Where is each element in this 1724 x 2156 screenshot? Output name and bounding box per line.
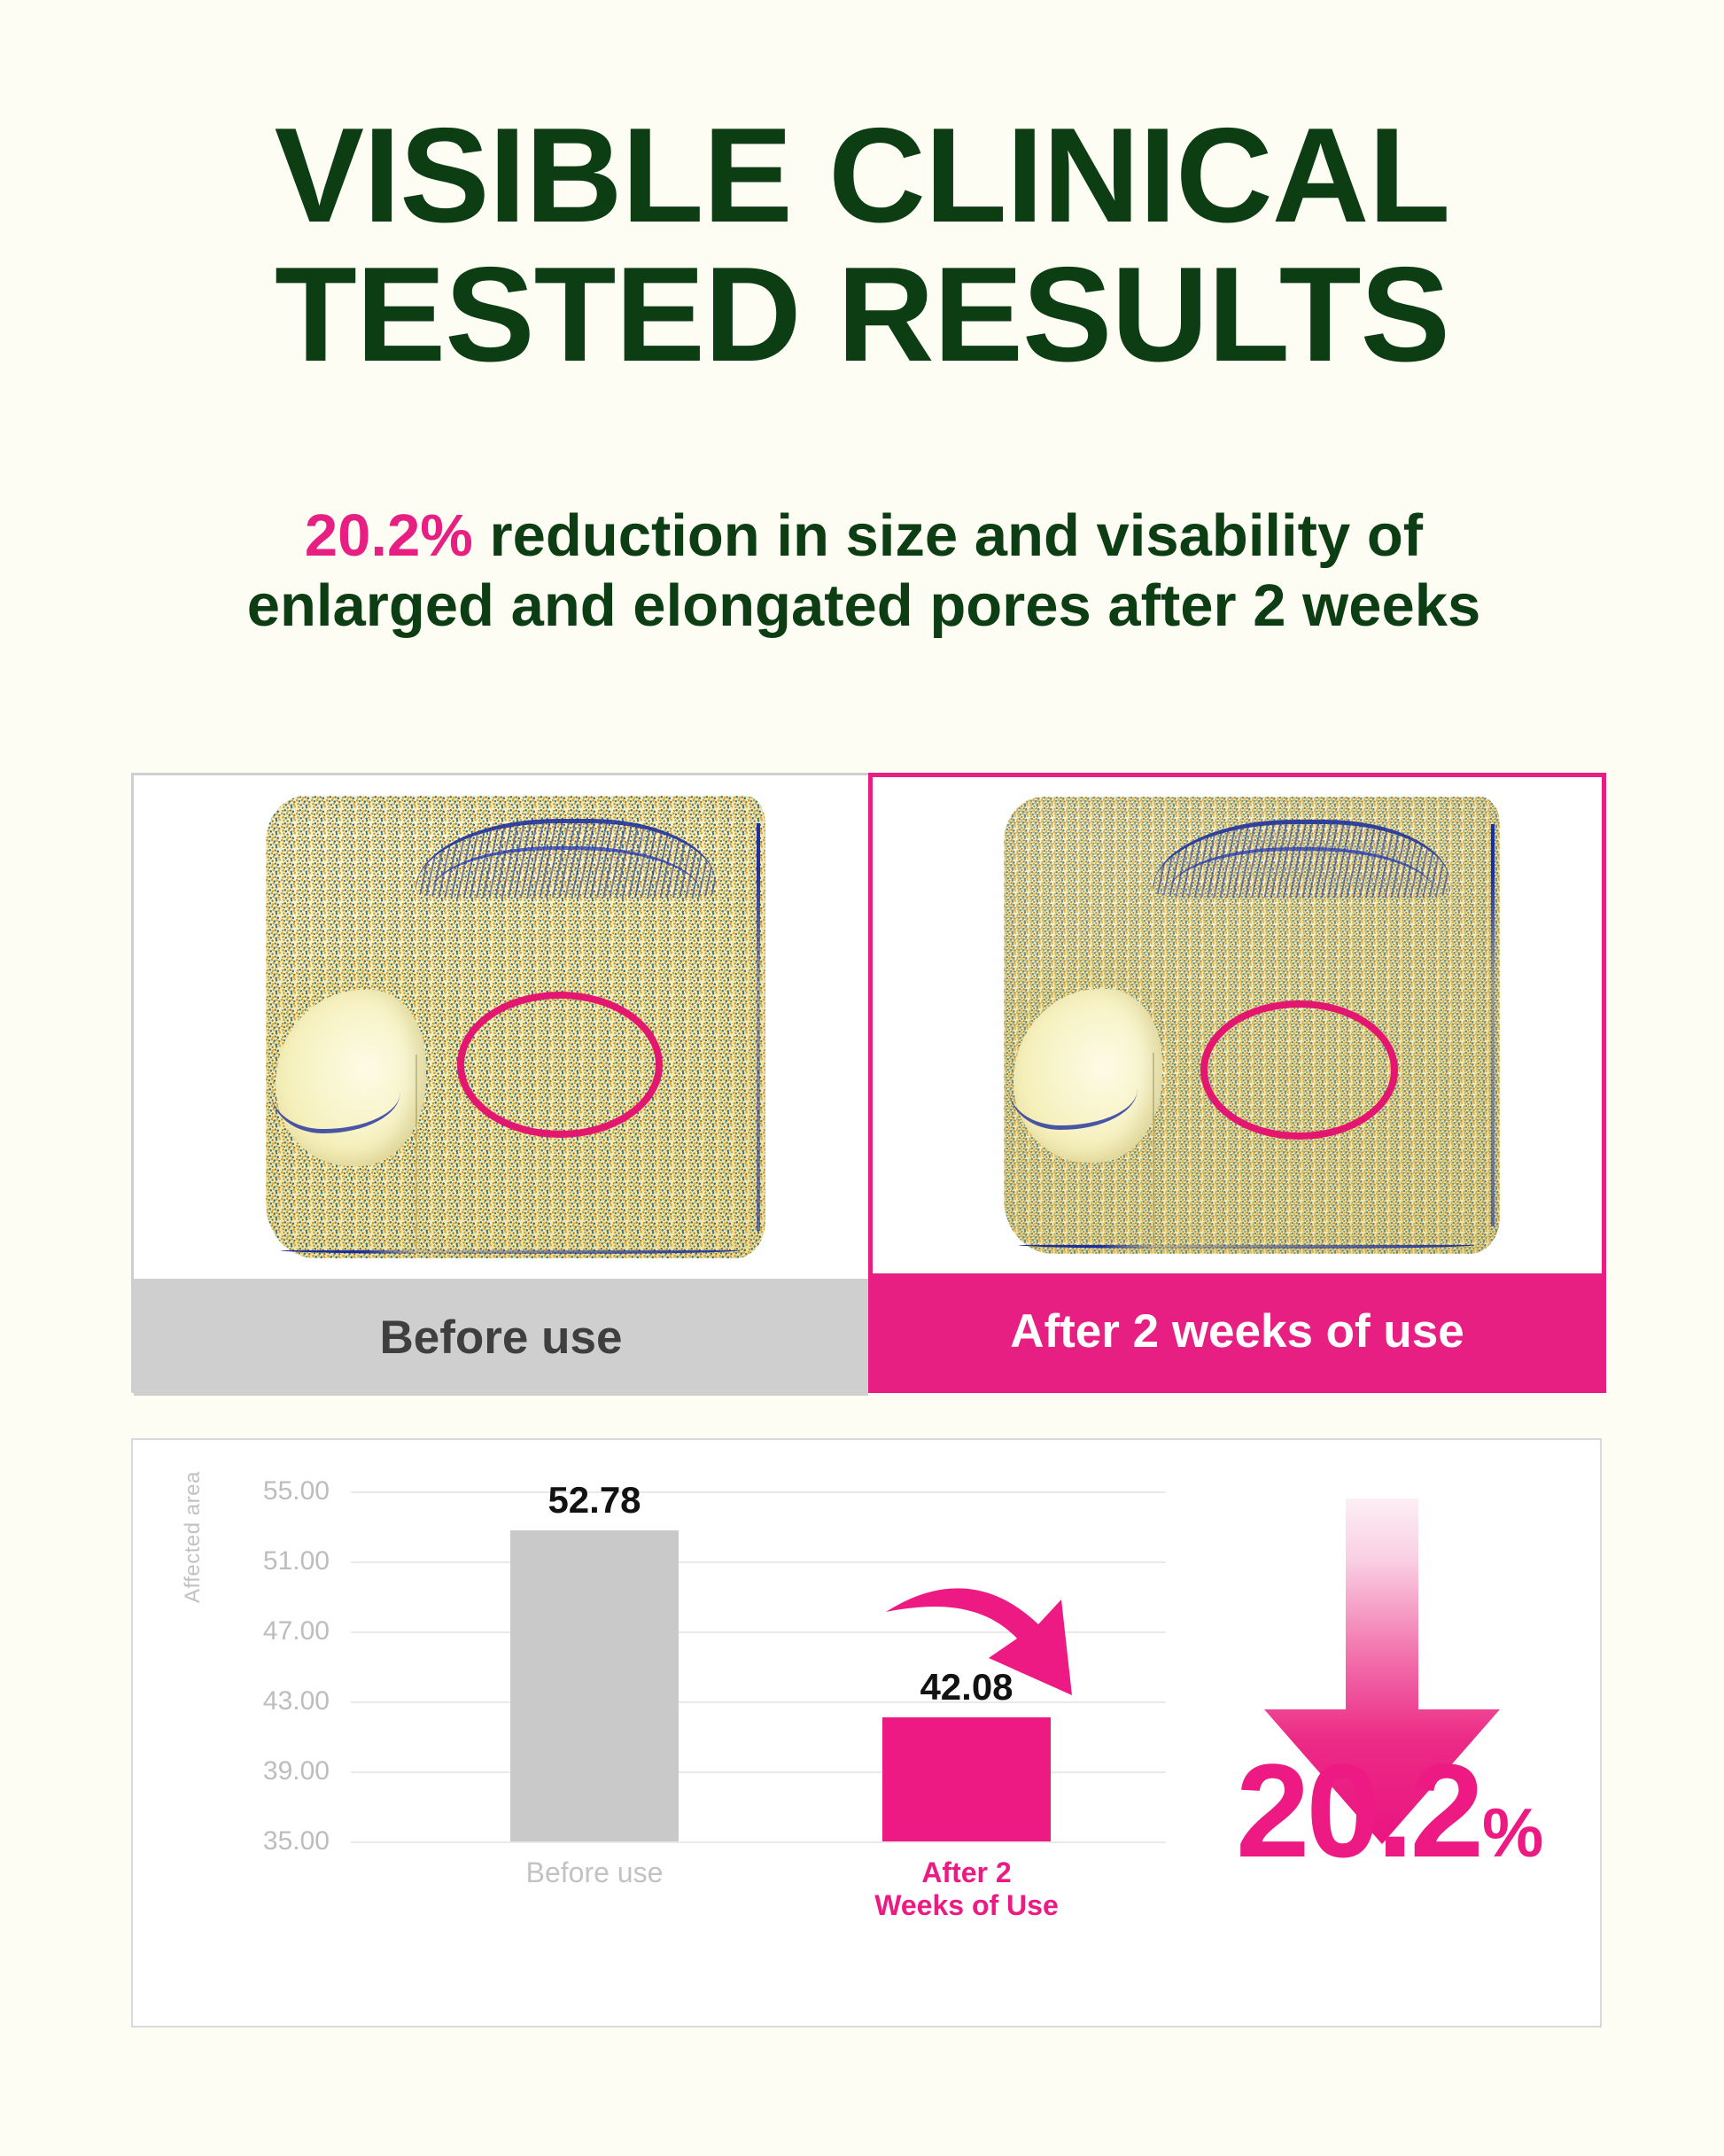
reduction-percent-number: 20.2: [1236, 1744, 1480, 1877]
nose-wing-shape: [276, 990, 425, 1166]
panel-caption-after: After 2 weeks of use: [873, 1273, 1602, 1389]
lower-outline: [281, 1250, 741, 1254]
skin-surface-render: [266, 796, 765, 1259]
page-title: VISIBLE CLINICAL TESTED RESULTS: [0, 106, 1724, 384]
page-title-line-1: VISIBLE CLINICAL: [0, 106, 1724, 245]
page-title-line-2: TESTED RESULTS: [0, 245, 1724, 385]
skin-photo-after: [873, 777, 1602, 1273]
skin-photo-before: [134, 775, 868, 1279]
reduction-percent-symbol: %: [1482, 1798, 1543, 1867]
bar-value-before: 52.78: [479, 1479, 710, 1522]
chart-y-tick-label: 47.00: [263, 1616, 330, 1646]
chart-x-label-before: Before use: [462, 1856, 727, 1889]
reduction-percent: 20.2 %: [1236, 1744, 1573, 1877]
chart-y-tick-label: 39.00: [263, 1756, 330, 1786]
chart-y-tick-label: 35.00: [263, 1826, 330, 1856]
chart-x-label-after-line-2: Weeks of Use: [874, 1889, 1059, 1921]
chart-y-tick-label: 43.00: [263, 1686, 330, 1716]
subtitle-line-2: enlarged and elongated pores after 2 wee…: [247, 572, 1481, 639]
clinical-results-chart-card: Affected area 55.0051.0047.0043.0039.003…: [131, 1438, 1602, 2028]
bar-chart: Affected area 55.0051.0047.0043.0039.003…: [184, 1483, 1168, 1979]
panel-caption-before: Before use: [134, 1279, 868, 1396]
curved-down-right-arrow-icon: [882, 1562, 1113, 1713]
infographic-page: VISIBLE CLINICAL TESTED RESULTS 20.2% re…: [0, 0, 1724, 2156]
chart-gridline: 55.00: [351, 1491, 1166, 1493]
chart-gridline: 35.00: [351, 1841, 1166, 1843]
chart-x-label-before-line-1: Before use: [526, 1856, 664, 1888]
bar-before-use: [510, 1530, 679, 1841]
chart-y-tick-label: 51.00: [263, 1546, 330, 1576]
skin-surface-render: [1004, 797, 1500, 1253]
cheek-crease-line: [1153, 1053, 1154, 1244]
reduction-stat-block: 20.2 %: [1245, 1483, 1590, 1979]
chart-x-label-after: After 2 Weeks of Use: [834, 1856, 1099, 1922]
right-outline: [1491, 824, 1495, 1226]
subtitle-percent-highlight: 20.2%: [305, 502, 473, 569]
before-after-comparison: Before use After 2 weeks of use: [131, 773, 1606, 1393]
panel-after-2-weeks: After 2 weeks of use: [868, 773, 1606, 1393]
bar-after-2-weeks: [882, 1717, 1051, 1841]
chart-plot-area: 55.0051.0047.0043.0039.0035.00 52.78 42.…: [351, 1491, 1166, 1841]
cheek-crease-line: [415, 1055, 417, 1249]
lower-outline: [1019, 1245, 1475, 1249]
chart-y-tick-label: 55.00: [263, 1476, 330, 1506]
right-outline: [757, 823, 760, 1231]
nose-wing-shape: [1013, 989, 1162, 1163]
subtitle: 20.2% reduction in size and visability o…: [115, 501, 1612, 641]
subtitle-line-1-rest: reduction in size and visability of: [473, 502, 1423, 569]
chart-y-axis-label: Affected area: [181, 1390, 206, 1603]
chart-x-label-after-line-1: After 2: [921, 1856, 1011, 1888]
panel-before-use: Before use: [131, 773, 868, 1393]
